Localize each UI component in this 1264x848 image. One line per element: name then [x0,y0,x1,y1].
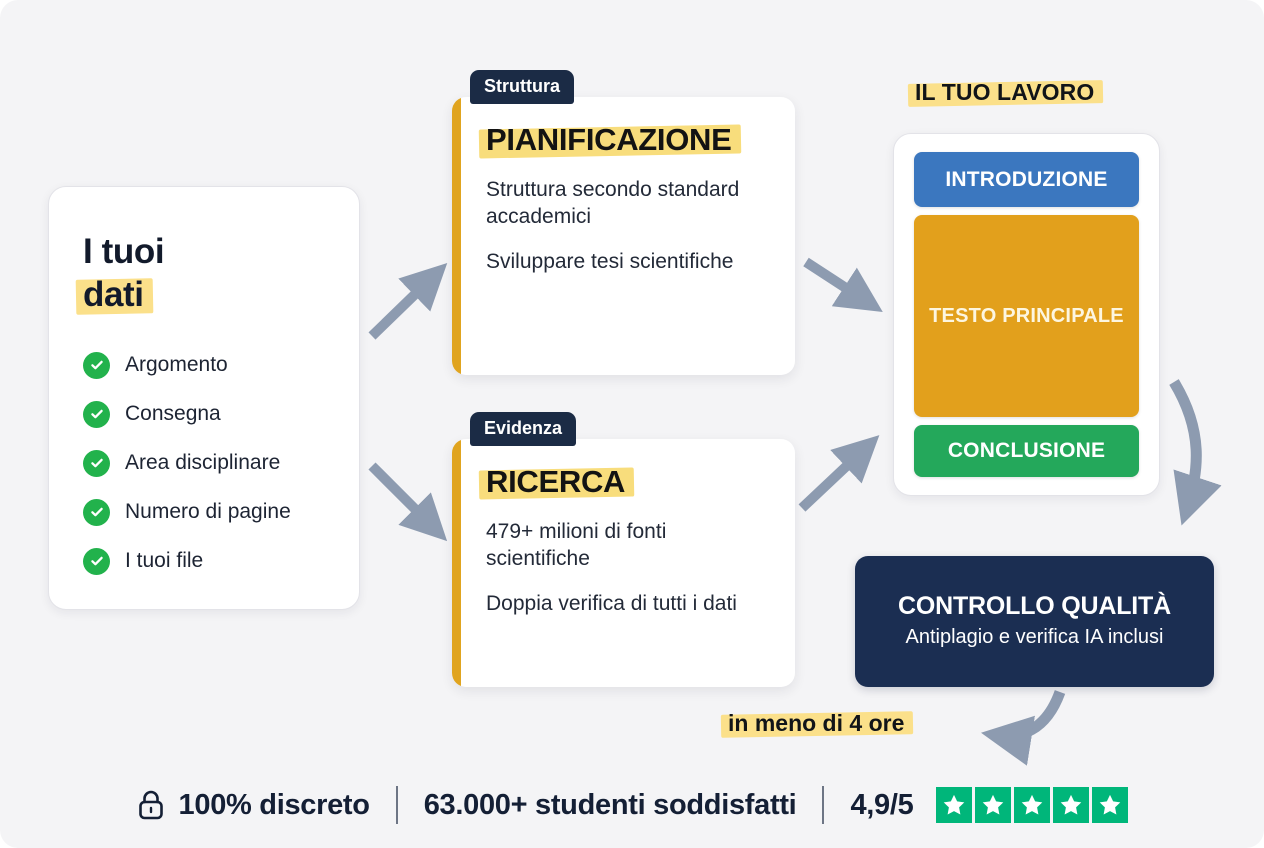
your-data-card: I tuoi dati Argomento Consegna Area di [48,186,360,610]
star-icon [975,787,1011,823]
data-card-title-line2: dati [83,275,144,314]
quality-subtitle: Antiplagio e verifica IA inclusi [906,625,1164,651]
list-item: I tuoi file [83,548,325,575]
data-card-title-line1: I tuoi [83,232,164,271]
planning-line-1: Struttura secondo standard accademici [486,177,765,231]
trust-discretion: 100% discreto [136,788,370,822]
check-circle-icon [83,548,110,575]
check-circle-icon [83,450,110,477]
your-work-label: IL TUO LAVORO [915,79,1094,106]
document-block-introduction: INTRODUZIONE [914,152,1139,207]
list-item-label: Numero di pagine [125,500,291,524]
check-circle-icon [83,499,110,526]
trust-rating-value: 4,9/5 [850,789,913,822]
arrow-planning-to-document [806,262,872,305]
planning-tab-label: Struttura [470,70,574,104]
list-item-label: Area disciplinare [125,451,280,475]
delivery-time-label: in meno di 4 ore [728,710,904,737]
trust-divider [822,786,824,824]
planning-body: Struttura secondo standard accademici Sv… [486,177,765,276]
quality-control-box: CONTROLLO QUALITÀ Antiplagio e verifica … [855,556,1214,687]
data-card-title: I tuoi dati [83,231,325,316]
trust-divider [396,786,398,824]
list-item: Consegna [83,401,325,428]
research-line-1: 479+ milioni di fonti scientifiche [486,519,765,573]
rating-stars [936,787,1128,823]
data-checklist: Argomento Consegna Area disciplinare Num… [83,352,325,575]
document-block-main-text: TESTO PRINCIPALE [914,215,1139,417]
star-icon [936,787,972,823]
planning-heading: PIANIFICAZIONE [486,123,765,157]
list-item-label: I tuoi file [125,549,203,573]
list-item-label: Consegna [125,402,221,426]
research-tab-label: Evidenza [470,412,576,446]
check-circle-icon [83,352,110,379]
planning-line-2: Sviluppare tesi scientifiche [486,249,765,276]
trust-students: 63.000+ studenti soddisfatti [424,789,797,822]
trust-bar: 100% discreto 63.000+ studenti soddisfat… [0,786,1264,824]
arrow-data-to-research [372,466,438,532]
check-circle-icon [83,401,110,428]
trust-rating: 4,9/5 [850,787,1128,823]
research-line-2: Doppia verifica di tutti i dati [486,591,765,618]
arrow-data-to-planning [372,272,438,336]
lock-icon [136,788,166,822]
list-item-label: Argomento [125,353,228,377]
star-icon [1053,787,1089,823]
list-item: Area disciplinare [83,450,325,477]
star-icon [1014,787,1050,823]
document-preview-panel: INTRODUZIONE TESTO PRINCIPALE CONCLUSION… [893,133,1160,496]
list-item: Numero di pagine [83,499,325,526]
research-card: RICERCA 479+ milioni di fonti scientific… [452,439,795,687]
infographic-canvas: I tuoi dati Argomento Consegna Area di [0,0,1264,848]
research-heading: RICERCA [486,465,765,499]
quality-title: CONTROLLO QUALITÀ [898,592,1171,621]
document-block-conclusion: CONCLUSIONE [914,425,1139,477]
arrow-document-to-quality [1174,382,1196,512]
list-item: Argomento [83,352,325,379]
planning-card: PIANIFICAZIONE Struttura secondo standar… [452,97,795,375]
arrow-research-to-document [802,444,870,508]
research-body: 479+ milioni di fonti scientifiche Doppi… [486,519,765,618]
arrow-quality-to-eta [995,692,1060,736]
trust-discretion-label: 100% discreto [179,789,370,822]
star-icon [1092,787,1128,823]
trust-students-label: 63.000+ studenti soddisfatti [424,789,797,822]
